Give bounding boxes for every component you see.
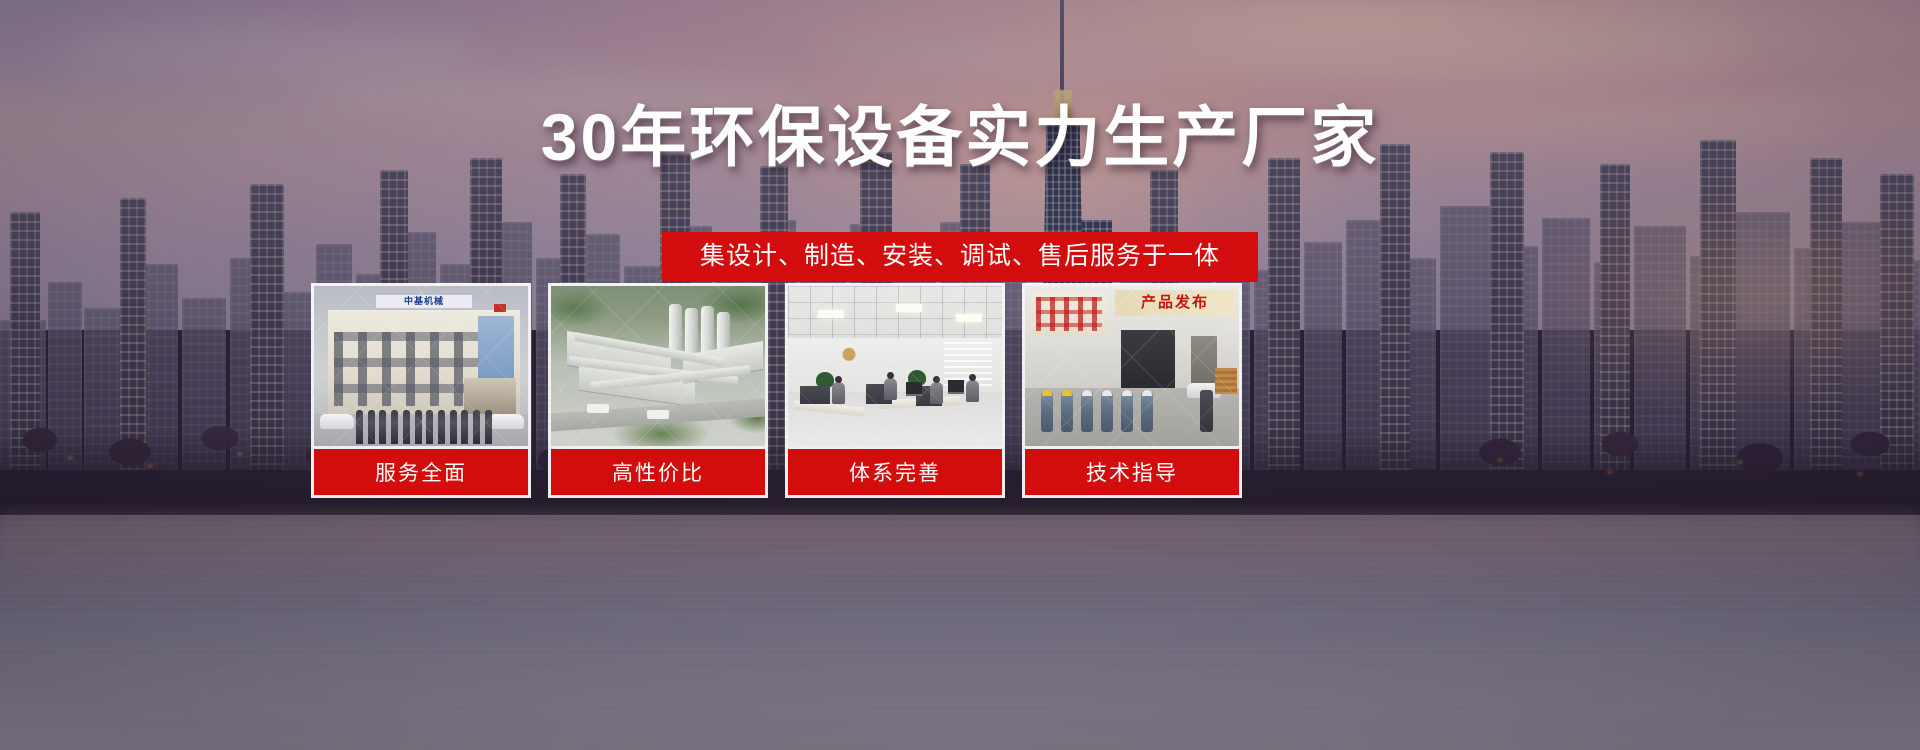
feature-card-list: 中基机械 服务全面 — [311, 283, 1551, 498]
person-head — [887, 372, 894, 379]
hardhat-icon — [1102, 390, 1112, 396]
person-shape — [832, 382, 845, 404]
worker-shape — [1041, 392, 1053, 432]
card-photo-office-building: 中基机械 — [314, 286, 528, 446]
banner-headline: 30年环保设备实力生产厂家 — [0, 104, 1920, 170]
supervisor-shape — [1200, 390, 1213, 432]
ceiling-light — [956, 314, 982, 322]
flag-icon — [494, 304, 506, 312]
silo-shape — [685, 308, 698, 356]
feature-card[interactable]: 高性价比 — [548, 283, 768, 498]
wall-slogan-banner — [1031, 292, 1107, 336]
workshop-gate — [1121, 330, 1175, 390]
feature-card[interactable]: 产品发布 — [1022, 283, 1242, 498]
hardhat-icon — [1082, 390, 1092, 396]
person-head — [933, 376, 940, 383]
person-head — [835, 376, 842, 383]
ceiling-light — [818, 310, 844, 318]
card-photo-office-interior — [788, 286, 1002, 446]
worker-shape — [1141, 392, 1153, 432]
feature-card[interactable]: 中基机械 服务全面 — [311, 283, 531, 498]
truck-shape — [587, 404, 609, 413]
worker-shape — [1081, 392, 1093, 432]
card-label: 技术指导 — [1025, 449, 1239, 495]
feature-card[interactable]: 体系完善 — [785, 283, 1005, 498]
side-door — [1191, 336, 1217, 390]
banner-subtitle-wrap: 集设计、制造、安装、调试、售后服务于一体 — [0, 232, 1920, 282]
person-shape — [930, 382, 943, 404]
worker-shape — [1061, 392, 1073, 432]
wall-logo — [832, 344, 866, 370]
card-photo-aerial-plant — [551, 286, 765, 446]
person-shape — [966, 380, 979, 402]
card-label: 服务全面 — [314, 449, 528, 495]
monitor-shape — [906, 382, 922, 396]
company-sign: 中基机械 — [376, 295, 472, 308]
material-stack — [1215, 368, 1237, 394]
monitor-shape — [948, 380, 964, 394]
truck-shape — [647, 410, 669, 419]
silo-shape — [701, 306, 714, 356]
hero-banner: 30年环保设备实力生产厂家 集设计、制造、安装、调试、售后服务于一体 中基机械 — [0, 0, 1920, 750]
hardhat-icon — [1042, 390, 1052, 396]
banner-subtitle-badge: 集设计、制造、安装、调试、售后服务于一体 — [662, 232, 1258, 282]
card-photo-workshop: 产品发布 — [1025, 286, 1239, 446]
car-shape — [320, 414, 354, 429]
ceiling-light — [896, 304, 922, 312]
staff-lineup — [356, 410, 492, 444]
worker-shape — [1101, 392, 1113, 432]
hardhat-icon — [1142, 390, 1152, 396]
workshop-sign: 产品发布 — [1115, 290, 1235, 316]
office-chair — [800, 386, 830, 404]
worker-shape — [1121, 392, 1133, 432]
person-shape — [884, 378, 897, 400]
hardhat-icon — [1122, 390, 1132, 396]
person-head — [969, 374, 976, 381]
banner-content: 30年环保设备实力生产厂家 集设计、制造、安装、调试、售后服务于一体 中基机械 — [0, 0, 1920, 750]
car-shape — [490, 414, 524, 429]
card-label: 高性价比 — [551, 449, 765, 495]
hardhat-icon — [1062, 390, 1072, 396]
card-label: 体系完善 — [788, 449, 1002, 495]
